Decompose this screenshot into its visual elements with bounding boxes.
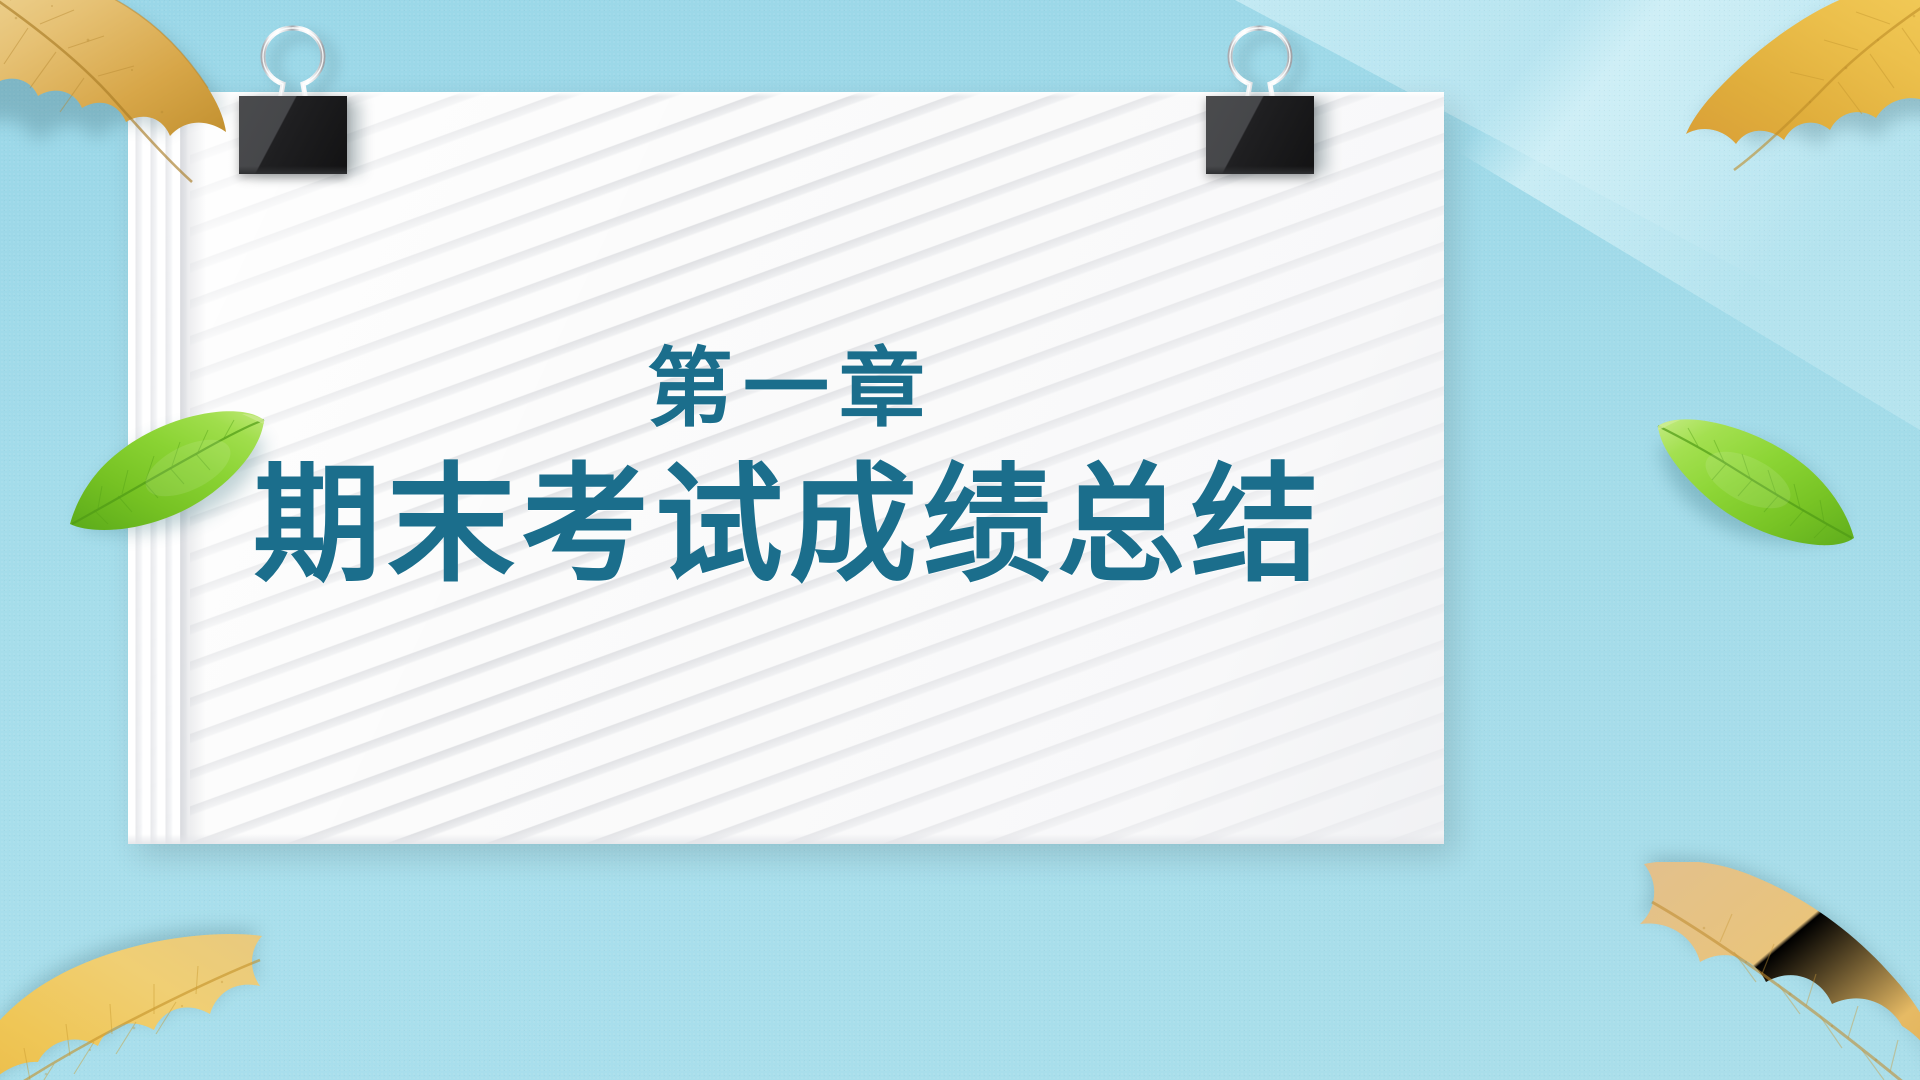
chapter-label: 第一章: [647, 346, 935, 432]
page-title: 期末考试成绩总结: [253, 462, 1325, 590]
title-block: 第一章 期末考试成绩总结: [128, 92, 1444, 844]
slide-canvas: 第一章 期末考试成绩总结: [0, 0, 1920, 1080]
binder-clip-left-body: [239, 96, 347, 174]
binder-clip-left[interactable]: [233, 24, 353, 174]
binder-clip-right-body: [1206, 96, 1314, 174]
binder-clip-right[interactable]: [1200, 24, 1320, 174]
